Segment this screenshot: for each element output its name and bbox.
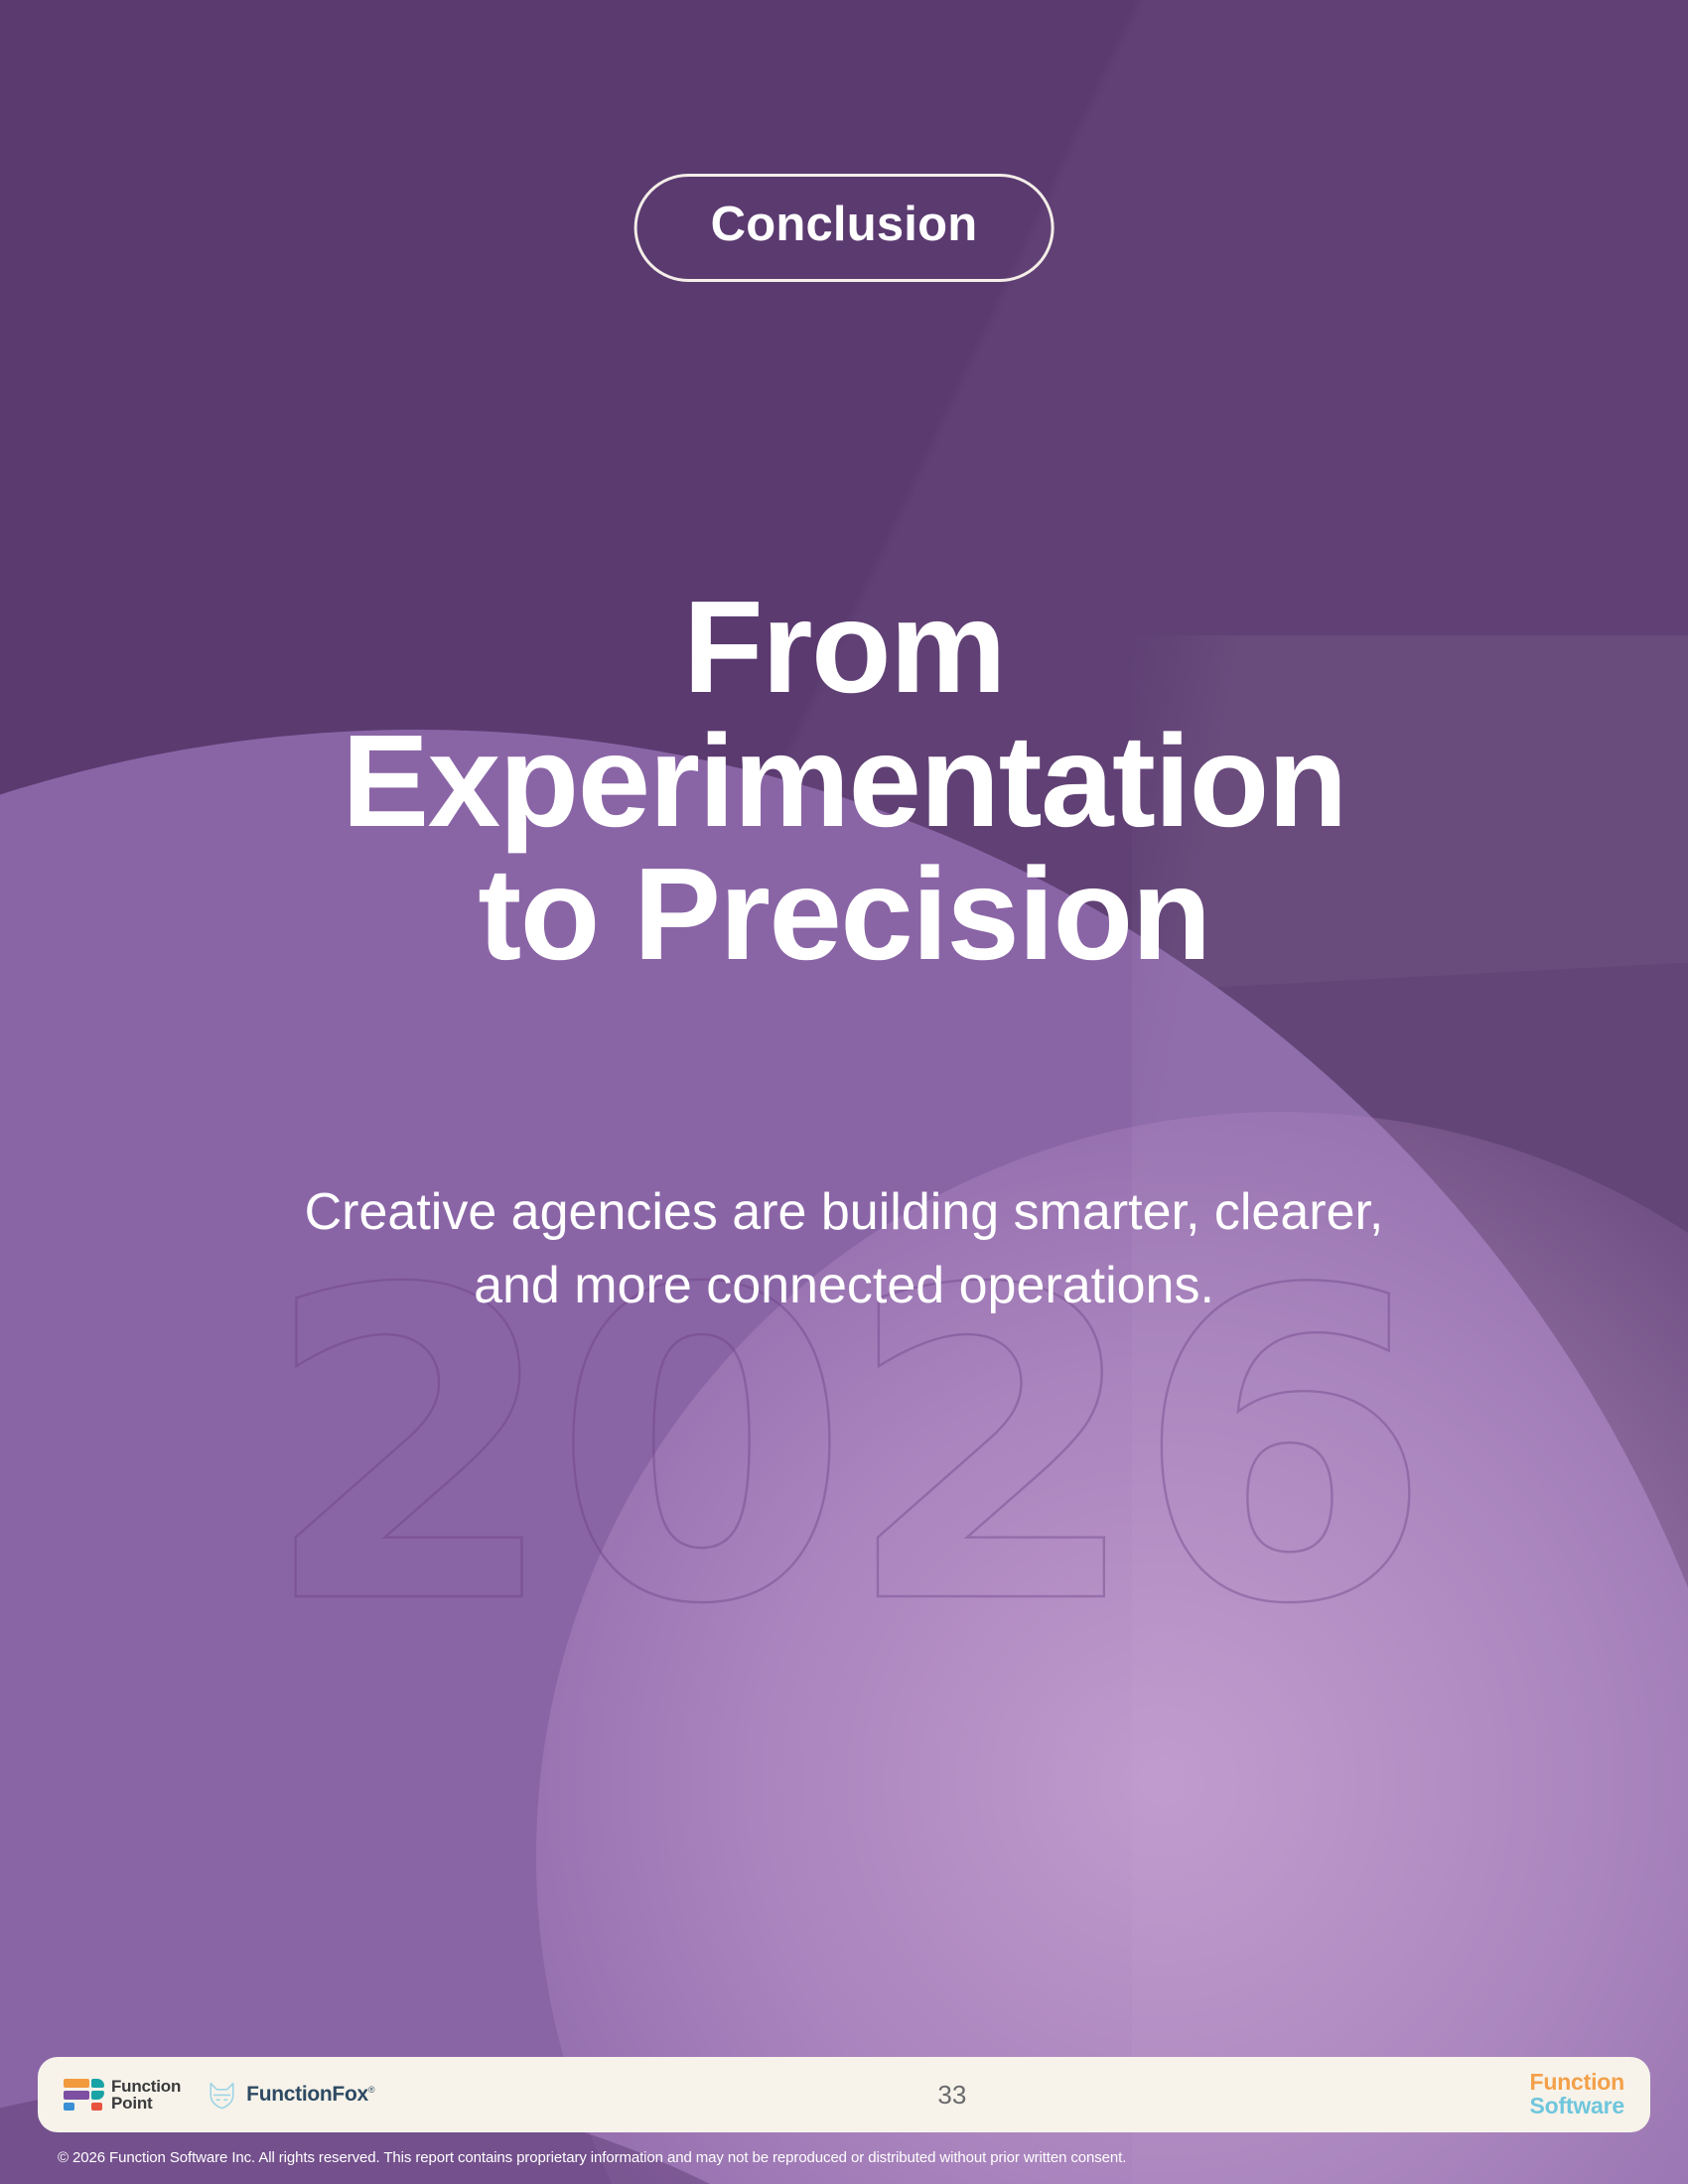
function-point-line-1: Function — [111, 2077, 181, 2096]
headline-line-2: Experimentation — [149, 715, 1539, 849]
fp-red-square-icon — [91, 2103, 102, 2111]
conclusion-page: 2026 Conclusion From Experimentation to … — [0, 0, 1688, 2184]
page-content: Conclusion From Experimentation to Preci… — [0, 0, 1688, 2184]
headline-line-3: to Precision — [149, 848, 1539, 982]
function-fox-logo: FunctionFox® — [207, 2080, 374, 2110]
function-point-logo: Function Point — [64, 2078, 181, 2113]
function-point-wordmark: Function Point — [111, 2078, 181, 2113]
function-fox-trademark: ® — [368, 2085, 374, 2095]
copyright-notice: © 2026 Function Software Inc. All rights… — [58, 2149, 1126, 2166]
subtitle-line-1: Creative agencies are building smarter, … — [189, 1176, 1499, 1250]
footer-bar: Function Point FunctionFox® — [38, 2057, 1650, 2132]
page-number: 33 — [374, 2080, 1529, 2111]
fp-teal-top-icon — [91, 2079, 104, 2088]
function-point-line-2: Point — [111, 2094, 153, 2113]
fox-head-icon — [207, 2080, 237, 2110]
footer-logos: Function Point FunctionFox® — [64, 2078, 374, 2113]
function-fox-wordmark: FunctionFox® — [246, 2083, 374, 2107]
fp-purple-bar-icon — [64, 2091, 89, 2100]
function-software-line-2: Software — [1529, 2095, 1624, 2118]
function-point-mark-icon — [64, 2079, 104, 2111]
fp-orange-bar-icon — [64, 2079, 89, 2088]
page-subtitle: Creative agencies are building smarter, … — [189, 1176, 1499, 1323]
section-badge: Conclusion — [634, 174, 1055, 282]
function-fox-name: FunctionFox — [246, 2083, 368, 2106]
function-software-line-1: Function — [1529, 2071, 1624, 2095]
page-title: From Experimentation to Precision — [149, 581, 1539, 982]
fp-blue-square-icon — [64, 2103, 74, 2111]
headline-line-1: From — [149, 581, 1539, 715]
function-software-logo: Function Software — [1529, 2071, 1624, 2118]
fp-teal-bottom-icon — [91, 2091, 104, 2100]
subtitle-line-2: and more connected operations. — [189, 1250, 1499, 1323]
